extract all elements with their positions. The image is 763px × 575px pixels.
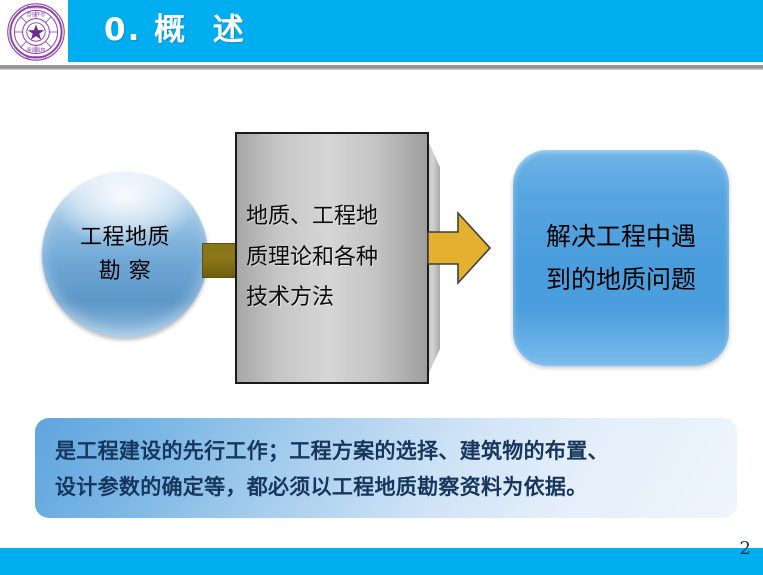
svg-text:厚德载物: 厚德载物 — [27, 46, 46, 53]
diagram-result-box-geological-problems: 解决工程中遇 到的地质问题 — [513, 150, 729, 366]
summary-callout-text: 是工程建设的先行工作；工程方案的选择、建筑物的布置、 设计参数的确定等，都必须以… — [55, 433, 717, 505]
header-banner: 0. 概 述 — [68, 0, 763, 62]
right-arrow-icon — [427, 210, 491, 286]
svg-text:TSINGHUA: TSINGHUA — [27, 5, 46, 9]
concept-diagram: 工程地质 勘 察 地质、工程地 质理论和各种 技术方法 解决工程中遇 到的地质问… — [0, 70, 763, 400]
slide-header: 0. 概 述 TSINGHUA UNIVERSITY — [0, 0, 763, 63]
diagram-connector-block — [202, 243, 238, 278]
diagram-process-box-methods: 地质、工程地 质理论和各种 技术方法 — [235, 132, 429, 384]
diagram-sphere-label: 工程地质 勘 察 — [80, 221, 170, 289]
diagram-process-box-label: 地质、工程地 质理论和各种 技术方法 — [237, 197, 378, 319]
tsinghua-university-seal-icon: TSINGHUA UNIVERSITY 自强不息 厚德载物 — [6, 2, 66, 62]
page-number: 2 — [740, 538, 751, 559]
summary-callout-box: 是工程建设的先行工作；工程方案的选择、建筑物的布置、 设计参数的确定等，都必须以… — [35, 418, 737, 518]
page-title: 0. 概 述 — [104, 4, 246, 56]
diagram-result-box-label: 解决工程中遇 到的地质问题 — [546, 215, 696, 301]
svg-text:自强不息: 自强不息 — [27, 11, 46, 18]
footer-bar — [0, 548, 763, 575]
svg-text:UNIVERSITY: UNIVERSITY — [26, 56, 48, 60]
diagram-sphere-engineering-geological-survey: 工程地质 勘 察 — [42, 172, 208, 338]
